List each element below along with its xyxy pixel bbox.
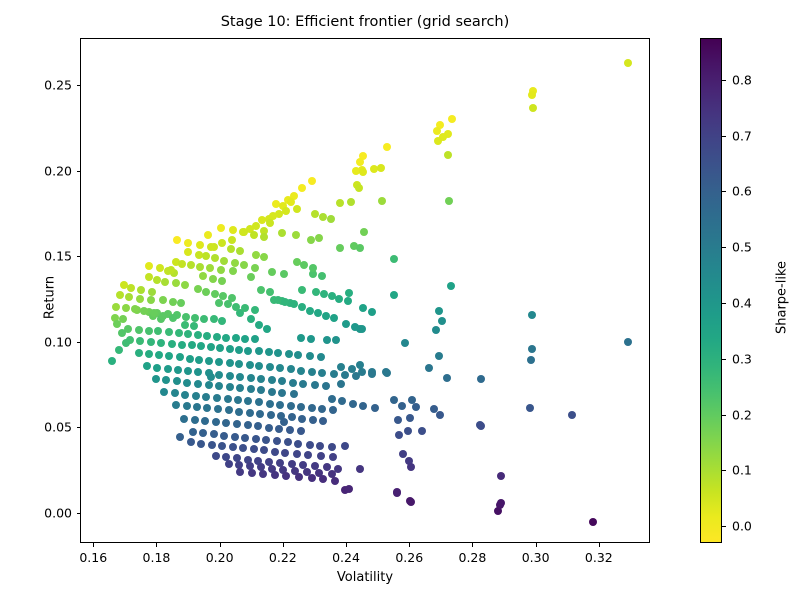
scatter-point bbox=[293, 450, 301, 458]
scatter-point bbox=[317, 452, 325, 460]
scatter-point bbox=[213, 394, 221, 402]
scatter-point bbox=[316, 442, 324, 450]
scatter-point bbox=[443, 374, 451, 382]
scatter-point bbox=[202, 288, 210, 296]
scatter-point bbox=[181, 281, 189, 289]
scatter-point bbox=[224, 395, 232, 403]
scatter-point bbox=[196, 241, 204, 249]
scatter-point bbox=[246, 409, 254, 417]
scatter-point bbox=[383, 143, 391, 151]
scatter-point bbox=[231, 259, 239, 267]
scatter-point bbox=[308, 368, 316, 376]
scatter-point bbox=[215, 382, 223, 390]
x-tick-mark bbox=[472, 543, 473, 547]
scatter-point bbox=[477, 375, 485, 383]
scatter-point bbox=[168, 340, 176, 348]
scatter-point bbox=[201, 417, 209, 425]
scatter-point bbox=[190, 322, 198, 330]
scatter-point bbox=[378, 197, 386, 205]
chart-title: Stage 10: Efficient frontier (grid searc… bbox=[80, 14, 650, 30]
x-tick-label: 0.20 bbox=[206, 550, 234, 565]
colorbar-tick-mark bbox=[722, 80, 726, 81]
scatter-point bbox=[184, 330, 192, 338]
y-tick-mark bbox=[77, 256, 81, 257]
scatter-point bbox=[298, 415, 306, 423]
scatter-point bbox=[278, 389, 286, 397]
scatter-point bbox=[273, 437, 281, 445]
scatter-point bbox=[227, 245, 235, 253]
y-tick-label: 0.00 bbox=[38, 506, 72, 521]
scatter-point bbox=[159, 296, 167, 304]
x-tick-mark bbox=[93, 543, 94, 547]
scatter-point bbox=[186, 355, 194, 363]
colorbar-tick-mark bbox=[722, 415, 726, 416]
scatter-point bbox=[438, 317, 446, 325]
scatter-point bbox=[306, 352, 314, 360]
scatter-point bbox=[447, 282, 455, 290]
scatter-point bbox=[241, 335, 249, 343]
colorbar-tick-mark bbox=[722, 359, 726, 360]
scatter-point bbox=[286, 426, 294, 434]
x-tick-label: 0.18 bbox=[143, 550, 171, 565]
scatter-point bbox=[292, 231, 300, 239]
scatter-point bbox=[228, 294, 236, 302]
scatter-point bbox=[205, 357, 213, 365]
scatter-point bbox=[234, 396, 242, 404]
colorbar-tick-mark bbox=[722, 247, 726, 248]
y-tick-mark bbox=[77, 171, 81, 172]
scatter-point bbox=[256, 410, 264, 418]
scatter-point bbox=[528, 91, 536, 99]
y-tick-label: 0.25 bbox=[38, 78, 72, 93]
y-tick-mark bbox=[77, 342, 81, 343]
scatter-point bbox=[371, 404, 379, 412]
scatter-point bbox=[220, 432, 228, 440]
scatter-point bbox=[278, 229, 286, 237]
scatter-point bbox=[268, 388, 276, 396]
scatter-point bbox=[241, 434, 249, 442]
scatter-point bbox=[335, 295, 343, 303]
scatter-point bbox=[215, 371, 223, 379]
colorbar-tick-label: 0.5 bbox=[732, 240, 752, 255]
scatter-point bbox=[235, 346, 243, 354]
scatter-point bbox=[260, 253, 268, 261]
scatter-point bbox=[290, 390, 298, 398]
x-tick-label: 0.26 bbox=[395, 550, 423, 565]
scatter-point bbox=[307, 236, 315, 244]
scatter-point bbox=[336, 199, 344, 207]
scatter-point bbox=[432, 326, 440, 334]
scatter-point bbox=[297, 334, 305, 342]
matplotlib-figure: Stage 10: Efficient frontier (grid searc… bbox=[0, 0, 800, 600]
scatter-point bbox=[175, 329, 183, 337]
scatter-point bbox=[311, 381, 319, 389]
scatter-point bbox=[435, 307, 443, 315]
scatter-point bbox=[268, 376, 276, 384]
scatter-point bbox=[137, 286, 145, 294]
scatter-point bbox=[192, 392, 200, 400]
scatter-point bbox=[266, 363, 274, 371]
scatter-point bbox=[225, 406, 233, 414]
scatter-point bbox=[113, 320, 121, 328]
scatter-point bbox=[356, 244, 364, 252]
scatter-point bbox=[298, 184, 306, 192]
scatter-point bbox=[298, 286, 306, 294]
scatter-point bbox=[255, 362, 263, 370]
scatter-point bbox=[180, 415, 188, 423]
scatter-point bbox=[308, 404, 316, 412]
scatter-point bbox=[229, 226, 237, 234]
scatter-point bbox=[152, 375, 160, 383]
scatter-point bbox=[394, 416, 402, 424]
scatter-point bbox=[318, 369, 326, 377]
scatter-point bbox=[332, 336, 340, 344]
scatter-point bbox=[240, 261, 248, 269]
x-tick-label: 0.32 bbox=[585, 550, 613, 565]
scatter-point bbox=[497, 472, 505, 480]
scatter-point bbox=[235, 408, 243, 416]
scatter-point bbox=[172, 401, 180, 409]
scatter-point bbox=[251, 306, 259, 314]
scatter-point bbox=[222, 334, 230, 342]
scatter-point bbox=[239, 444, 247, 452]
scatter-point bbox=[145, 262, 153, 270]
scatter-plot-area[interactable] bbox=[80, 38, 650, 543]
scatter-point bbox=[194, 331, 202, 339]
scatter-point bbox=[247, 385, 255, 393]
scatter-point bbox=[176, 353, 184, 361]
scatter-point bbox=[358, 368, 366, 376]
scatter-point bbox=[229, 267, 237, 275]
scatter-point bbox=[176, 433, 184, 441]
scatter-point bbox=[219, 292, 227, 300]
x-tick-mark bbox=[409, 543, 410, 547]
scatter-point bbox=[115, 346, 123, 354]
scatter-point bbox=[206, 264, 214, 272]
scatter-point bbox=[280, 418, 288, 426]
scatter-point bbox=[345, 289, 353, 297]
scatter-point bbox=[250, 445, 258, 453]
scatter-point bbox=[318, 405, 326, 413]
scatter-point bbox=[183, 379, 191, 387]
scatter-point bbox=[317, 353, 325, 361]
scatter-point bbox=[212, 452, 220, 460]
scatter-point bbox=[497, 499, 505, 507]
scatter-point bbox=[204, 231, 212, 239]
scatter-point bbox=[184, 367, 192, 375]
scatter-point bbox=[210, 315, 218, 323]
scatter-point bbox=[225, 460, 233, 468]
scatter-point bbox=[527, 356, 535, 364]
scatter-point bbox=[197, 440, 205, 448]
scatter-point bbox=[252, 435, 260, 443]
scatter-point bbox=[195, 356, 203, 364]
scatter-point bbox=[241, 304, 249, 312]
scatter-point bbox=[187, 261, 195, 269]
scatter-point bbox=[222, 419, 230, 427]
scatter-point bbox=[349, 400, 357, 408]
colorbar-tick-label: 0.0 bbox=[732, 519, 752, 534]
scatter-point bbox=[208, 441, 216, 449]
scatter-point bbox=[347, 198, 355, 206]
scatter-point bbox=[145, 327, 153, 335]
colorbar-tick-mark bbox=[722, 303, 726, 304]
scatter-point bbox=[181, 321, 189, 329]
scatter-point bbox=[322, 382, 330, 390]
scatter-point bbox=[359, 402, 367, 410]
scatter-point bbox=[330, 314, 338, 322]
y-tick-mark bbox=[77, 85, 81, 86]
scatter-point bbox=[147, 338, 155, 346]
scatter-point bbox=[295, 473, 303, 481]
scatter-point bbox=[434, 137, 442, 145]
scatter-point bbox=[262, 436, 270, 444]
scatter-point bbox=[308, 177, 316, 185]
scatter-point bbox=[318, 272, 326, 280]
scatter-point bbox=[322, 312, 330, 320]
scatter-point bbox=[136, 337, 144, 345]
scatter-point bbox=[154, 327, 162, 335]
scatter-point bbox=[304, 451, 312, 459]
scatter-point bbox=[445, 197, 453, 205]
scatter-point bbox=[236, 468, 244, 476]
scatter-point bbox=[236, 247, 244, 255]
scatter-point bbox=[246, 361, 254, 369]
scatter-point bbox=[308, 474, 316, 482]
colorbar-tick-label: 0.2 bbox=[732, 407, 752, 422]
scatter-point bbox=[356, 465, 364, 473]
scatter-point bbox=[624, 59, 632, 67]
scatter-point bbox=[260, 446, 268, 454]
scatter-point bbox=[251, 264, 259, 272]
scatter-point bbox=[338, 397, 346, 405]
scatter-point bbox=[293, 205, 301, 213]
scatter-point bbox=[254, 422, 262, 430]
scatter-point bbox=[390, 396, 398, 404]
scatter-point bbox=[255, 398, 263, 406]
scatter-point bbox=[271, 471, 279, 479]
scatter-point bbox=[205, 381, 213, 389]
x-tick-mark bbox=[599, 543, 600, 547]
scatter-point bbox=[199, 272, 207, 280]
x-tick-mark bbox=[156, 543, 157, 547]
scatter-point bbox=[210, 430, 218, 438]
scatter-point bbox=[320, 290, 328, 298]
scatter-point bbox=[300, 261, 308, 269]
scatter-point bbox=[108, 357, 116, 365]
scatter-point bbox=[299, 380, 307, 388]
scatter-point bbox=[294, 351, 302, 359]
scatter-point bbox=[187, 438, 195, 446]
scatter-point bbox=[404, 427, 412, 435]
scatter-point bbox=[589, 518, 597, 526]
x-axis-label: Volatility bbox=[80, 570, 650, 585]
scatter-point bbox=[247, 315, 255, 323]
scatter-point bbox=[203, 332, 211, 340]
scatter-point bbox=[172, 279, 180, 287]
scatter-point bbox=[217, 266, 225, 274]
scatter-point bbox=[276, 364, 284, 372]
scatter-point bbox=[311, 210, 319, 218]
scatter-point bbox=[218, 442, 226, 450]
scatter-point bbox=[147, 296, 155, 304]
scatter-point bbox=[398, 402, 406, 410]
scatter-point bbox=[257, 286, 265, 294]
scatter-point bbox=[207, 373, 215, 381]
scatter-point bbox=[217, 224, 225, 232]
scatter-point bbox=[282, 472, 290, 480]
scatter-point bbox=[216, 344, 224, 352]
scatter-point bbox=[342, 320, 350, 328]
scatter-point bbox=[336, 244, 344, 252]
scatter-point bbox=[329, 406, 337, 414]
scatter-point bbox=[194, 285, 202, 293]
scatter-point bbox=[352, 167, 360, 175]
scatter-point bbox=[306, 307, 314, 315]
scatter-point bbox=[568, 411, 576, 419]
scatter-point bbox=[263, 325, 271, 333]
scatter-point bbox=[215, 299, 223, 307]
scatter-point bbox=[312, 288, 320, 296]
x-tick-mark bbox=[346, 543, 347, 547]
scatter-point bbox=[359, 304, 367, 312]
scatter-point bbox=[165, 352, 173, 360]
scatter-point bbox=[218, 239, 226, 247]
scatter-point bbox=[220, 257, 228, 265]
scatter-point bbox=[135, 326, 143, 334]
scatter-point bbox=[297, 403, 305, 411]
scatter-point bbox=[330, 370, 338, 378]
scatter-point bbox=[197, 342, 205, 350]
colorbar-tick-label: 0.6 bbox=[732, 184, 752, 199]
scatter-point bbox=[257, 386, 265, 394]
x-tick-mark bbox=[283, 543, 284, 547]
scatter-point bbox=[331, 477, 339, 485]
x-tick-label: 0.22 bbox=[269, 550, 297, 565]
scatter-point bbox=[196, 263, 204, 271]
colorbar-tick-mark bbox=[722, 136, 726, 137]
scatter-point bbox=[281, 449, 289, 457]
scatter-point bbox=[252, 251, 260, 259]
scatter-point bbox=[288, 413, 296, 421]
scatter-point bbox=[211, 254, 219, 262]
scatter-point bbox=[444, 151, 452, 159]
scatter-point bbox=[156, 264, 164, 272]
scatter-point bbox=[477, 422, 485, 430]
scatter-point bbox=[248, 469, 256, 477]
scatter-point bbox=[266, 400, 274, 408]
scatter-point bbox=[319, 417, 327, 425]
scatter-point bbox=[344, 297, 352, 305]
scatter-point bbox=[377, 164, 385, 172]
scatter-point bbox=[194, 368, 202, 376]
scatter-point bbox=[265, 424, 273, 432]
scatter-point bbox=[294, 440, 302, 448]
scatter-point bbox=[425, 364, 433, 372]
scatter-point bbox=[250, 231, 258, 239]
scatter-point bbox=[329, 453, 337, 461]
scatter-point bbox=[390, 291, 398, 299]
scatter-point bbox=[148, 288, 156, 296]
y-tick-label: 0.20 bbox=[38, 163, 72, 178]
colorbar-tick-label: 0.7 bbox=[732, 128, 752, 143]
scatter-point bbox=[287, 402, 295, 410]
scatter-point bbox=[244, 347, 252, 355]
scatter-point bbox=[360, 228, 368, 236]
scatter-point bbox=[278, 377, 286, 385]
x-tick-label: 0.30 bbox=[522, 550, 550, 565]
scatter-point bbox=[193, 403, 201, 411]
scatter-point bbox=[214, 405, 222, 413]
scatter-point bbox=[267, 411, 275, 419]
scatter-point bbox=[157, 339, 165, 347]
scatter-point bbox=[407, 463, 415, 471]
scatter-point bbox=[173, 377, 181, 385]
scatter-point bbox=[184, 239, 192, 247]
scatter-point bbox=[165, 328, 173, 336]
scatter-point bbox=[199, 429, 207, 437]
scatter-point bbox=[309, 416, 317, 424]
scatter-point bbox=[436, 411, 444, 419]
scatter-point bbox=[169, 314, 177, 322]
scatter-point bbox=[382, 368, 390, 376]
scatter-point bbox=[232, 334, 240, 342]
scatter-point bbox=[418, 427, 426, 435]
scatter-point bbox=[167, 266, 175, 274]
scatter-point bbox=[226, 359, 234, 367]
scatter-point bbox=[448, 115, 456, 123]
scatter-point bbox=[191, 314, 199, 322]
scatter-point bbox=[368, 370, 376, 378]
scatter-point bbox=[244, 397, 252, 405]
scatter-point bbox=[298, 303, 306, 311]
scatter-point bbox=[164, 365, 172, 373]
scatter-point bbox=[290, 300, 298, 308]
scatter-point bbox=[319, 475, 327, 483]
scatter-point bbox=[268, 268, 276, 276]
scatter-point bbox=[529, 104, 537, 112]
colorbar-tick-label: 0.4 bbox=[732, 296, 752, 311]
scatter-point bbox=[323, 336, 331, 344]
scatter-point bbox=[275, 425, 283, 433]
scatter-point bbox=[188, 341, 196, 349]
scatter-point bbox=[173, 236, 181, 244]
scatter-point bbox=[182, 313, 190, 321]
scatter-point bbox=[213, 333, 221, 341]
scatter-point bbox=[232, 303, 240, 311]
scatter-point bbox=[359, 168, 367, 176]
scatter-point bbox=[212, 418, 220, 426]
scatter-point bbox=[284, 438, 292, 446]
scatter-point bbox=[247, 273, 255, 281]
x-tick-label: 0.16 bbox=[79, 550, 107, 565]
scatter-point bbox=[169, 298, 177, 306]
scatter-point bbox=[528, 311, 536, 319]
scatter-point bbox=[390, 255, 398, 263]
scatter-point bbox=[200, 315, 208, 323]
scatter-point bbox=[162, 376, 170, 384]
scatter-point bbox=[155, 351, 163, 359]
scatter-point bbox=[125, 293, 133, 301]
scatter-point bbox=[189, 428, 197, 436]
scatter-point bbox=[255, 347, 263, 355]
scatter-point bbox=[207, 343, 215, 351]
scatter-point bbox=[174, 366, 182, 374]
scatter-point bbox=[236, 384, 244, 392]
scatter-point bbox=[341, 442, 349, 450]
scatter-point bbox=[231, 433, 239, 441]
scatter-point bbox=[145, 273, 153, 281]
